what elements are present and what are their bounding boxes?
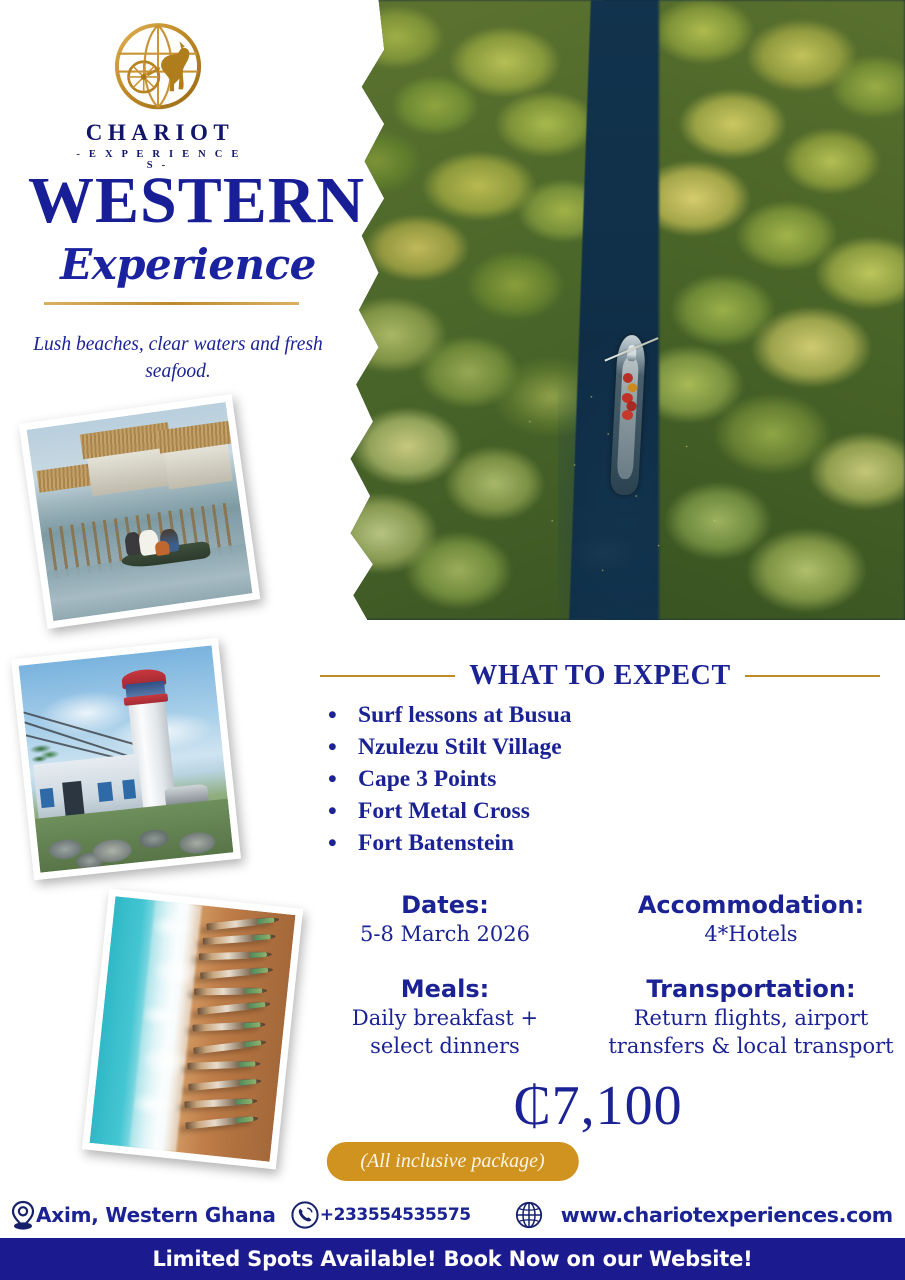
- stilt-village-photo-inner: [27, 402, 253, 621]
- contact-bar: Axim, Western Ghana +233554535575: [0, 1192, 905, 1238]
- building-window: [97, 782, 112, 802]
- what-to-expect-list: Surf lessons at Busua Nzulezu Stilt Vill…: [322, 700, 882, 860]
- fishing-boat: [202, 933, 276, 945]
- detail-value: Daily breakfast +: [292, 1005, 598, 1032]
- header-rule-left: [320, 675, 455, 678]
- contact-phone-text: +233554535575: [320, 1205, 471, 1225]
- fishing-boat: [194, 987, 268, 995]
- contact-location-text: Axim, Western Ghana: [36, 1203, 276, 1227]
- details-row-1: Dates: 5-8 March 2026 Accommodation: 4*H…: [292, 890, 904, 948]
- fishing-boat: [184, 1097, 258, 1108]
- canoe-cargo: [627, 383, 637, 393]
- brand-name: CHARIOT: [70, 120, 245, 146]
- detail-value: Return flights, airport: [598, 1005, 904, 1032]
- fishing-boat: [192, 1021, 266, 1032]
- lighthouse-photo: [11, 638, 241, 881]
- hero-boat-wake: [568, 533, 638, 573]
- hut-body: [164, 445, 233, 490]
- cta-banner-text: Limited Spots Available! Book Now on our…: [152, 1247, 752, 1271]
- fishing-boat: [206, 916, 280, 931]
- globe-icon: [513, 1199, 545, 1231]
- detail-label: Transportation:: [598, 974, 904, 1004]
- hero-image: [345, 0, 905, 620]
- beach-scene: [90, 896, 296, 1162]
- fishing-boat: [188, 1077, 262, 1090]
- detail-transportation: Transportation: Return flights, airport …: [598, 974, 904, 1060]
- list-item: Fort Metal Cross: [322, 796, 882, 828]
- fishing-boat: [187, 1060, 261, 1070]
- stilt-village-photo: [19, 394, 261, 629]
- hero-water-lilies: [345, 0, 905, 620]
- fishing-boat: [199, 951, 273, 961]
- detail-value: transfers & local transport: [598, 1033, 904, 1060]
- lighthouse-scene: [19, 645, 234, 872]
- beach-boats-photo: [82, 889, 303, 1170]
- list-item: Surf lessons at Busua: [322, 700, 882, 732]
- contact-phone[interactable]: +233554535575: [290, 1200, 471, 1230]
- building-window: [122, 779, 136, 799]
- price-badge: (All inclusive package): [326, 1142, 578, 1181]
- location-pin-icon: [10, 1200, 36, 1230]
- detail-label: Meals:: [292, 974, 598, 1004]
- detail-label: Accommodation:: [598, 890, 904, 920]
- detail-dates: Dates: 5-8 March 2026: [292, 890, 598, 948]
- villager: [154, 541, 170, 556]
- list-item: Fort Batenstein: [322, 828, 882, 860]
- detail-label: Dates:: [292, 890, 598, 920]
- fishing-boat: [185, 1114, 259, 1129]
- globe-chariot-icon: [104, 18, 212, 118]
- hut-roof: [36, 464, 91, 492]
- fishing-boat: [197, 1001, 271, 1016]
- canoe-boatman: [626, 344, 636, 360]
- fishing-boat: [194, 1038, 268, 1054]
- detail-meals: Meals: Daily breakfast + select dinners: [292, 974, 598, 1060]
- contact-website-text: www.chariotexperiences.com: [561, 1203, 893, 1227]
- cta-banner[interactable]: Limited Spots Available! Book Now on our…: [0, 1238, 905, 1280]
- beach-boats-photo-inner: [90, 896, 296, 1162]
- contact-location[interactable]: Axim, Western Ghana: [10, 1200, 276, 1230]
- price-amount: ₵7,100: [292, 1074, 904, 1138]
- title-divider: [44, 302, 299, 305]
- fishing-boat: [200, 966, 274, 979]
- contact-website[interactable]: www.chariotexperiences.com: [513, 1199, 893, 1231]
- lighthouse-photo-inner: [19, 645, 234, 872]
- stilt-village-scene: [27, 402, 253, 621]
- what-to-expect-title: WHAT TO EXPECT: [469, 660, 731, 692]
- hero-image-canvas: [345, 0, 905, 620]
- detail-value: 5-8 March 2026: [292, 921, 598, 948]
- tagline: Lush beaches, clear waters and fresh sea…: [4, 332, 352, 386]
- detail-value: 4*Hotels: [598, 921, 904, 948]
- trip-details: Dates: 5-8 March 2026 Accommodation: 4*H…: [292, 890, 904, 1060]
- page-subtitle: Experience: [28, 240, 348, 289]
- brand-logo: CHARIOT - E X P E R I E N C E S -: [70, 18, 245, 171]
- list-item: Cape 3 Points: [322, 764, 882, 796]
- page-title: WESTERN: [28, 168, 358, 234]
- building-window: [39, 788, 54, 808]
- detail-accommodation: Accommodation: 4*Hotels: [598, 890, 904, 948]
- header-rule-right: [745, 675, 880, 678]
- list-item: Nzulezu Stilt Village: [322, 732, 882, 764]
- what-to-expect-header: WHAT TO EXPECT: [320, 660, 880, 692]
- phone-icon: [290, 1200, 320, 1230]
- detail-value: select dinners: [292, 1033, 598, 1060]
- flyer-page: CHARIOT - E X P E R I E N C E S - WESTER…: [0, 0, 905, 1280]
- details-row-2: Meals: Daily breakfast + select dinners …: [292, 974, 904, 1060]
